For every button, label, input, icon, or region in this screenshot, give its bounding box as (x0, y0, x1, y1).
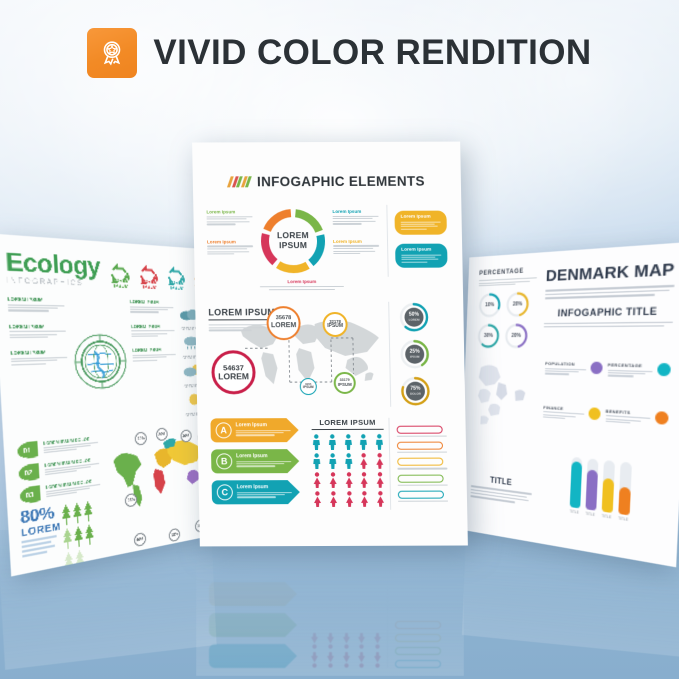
map-percent-marker: 35% (169, 528, 181, 543)
person-male-icon (343, 434, 352, 450)
arrow-heading: Lorem Ipsum (235, 422, 290, 428)
tree-icon (72, 501, 83, 525)
ecology-header: Ecology INFOGRAPHICS LOREMIPSUM (5, 249, 201, 292)
stripe-icon (227, 176, 252, 187)
arrow-banner-list: A Lorem Ipsum B Lorem Ipsum (210, 418, 308, 510)
award-ribbon-icon (87, 28, 137, 78)
denmark-stat-grid: POPULATION PERCENTAGE FINANCE (542, 361, 671, 452)
percentage-heading: PERCENTAGE (479, 268, 537, 277)
stat-item: POPULATION (544, 361, 602, 401)
divider (312, 429, 384, 430)
leaf-icon: 03 (18, 484, 42, 505)
arrow-banner[interactable]: B Lorem Ipsum (211, 449, 307, 473)
person-male-icon (328, 453, 337, 469)
person-female-icon (375, 453, 384, 469)
card-heading: Lorem Ipsum (401, 215, 441, 220)
donut-callouts-left: Lorem Ipsum Lorem Ipsum (206, 205, 253, 277)
person-female-icon (376, 491, 385, 507)
stat-dot (657, 363, 671, 376)
gauge-value: 50% LOREM (404, 308, 423, 327)
person-female-icon (359, 453, 368, 469)
stat-item: BENEFITS (604, 408, 669, 452)
donut-center-label: LOREM IPSUM (255, 205, 330, 277)
percentage-gauge: 20% (505, 291, 531, 319)
donut-callouts-right: Lorem Ipsum Lorem Ipsum (332, 205, 379, 277)
arrow-letter: B (216, 453, 232, 469)
stat-dot (590, 362, 602, 375)
donut-callout: Lorem Ipsum (332, 209, 378, 226)
person-male-icon (327, 434, 336, 450)
ecology-leaf-list: 01 LOREM IPSUM DOLOR 02 LOREM IPSUM DOLO… (16, 434, 105, 576)
arrow-letter: C (217, 484, 233, 500)
gauge-value: 30% (476, 323, 501, 350)
callout-heading: LOREM IPSUM (11, 349, 68, 356)
pill-item[interactable] (397, 426, 451, 437)
person-female-icon (344, 472, 353, 488)
percent-gauge: 25% IPSUM (399, 339, 431, 370)
tube-label: TITLE (569, 509, 580, 515)
map-percent-marker: 40% (134, 532, 146, 547)
callout-heading: Lorem Ipsum (192, 279, 450, 285)
donut-chart: LOREM IPSUM (255, 205, 330, 277)
pill-list (388, 418, 452, 510)
arrow-letter: A (215, 422, 231, 438)
tree-icon (62, 527, 73, 551)
person-male-icon (312, 434, 321, 450)
person-female-icon (360, 491, 369, 507)
stat-dot (655, 411, 669, 425)
callout-heading: LOREM IPSUM (132, 347, 175, 353)
people-heading: LOREM IPSUM (311, 418, 383, 427)
person-female-icon (375, 472, 384, 488)
donut-callout: Lorem Ipsum (333, 239, 379, 256)
tube-label: TITLE (585, 511, 596, 517)
gauge-value: 20% (503, 323, 529, 351)
ecology-callout: LOREM IPSUM (130, 299, 174, 314)
denmark-map-poster[interactable]: PERCENTAGE 10% 20% 30% (459, 242, 679, 567)
stat-heading: POPULATION (545, 361, 586, 367)
pill-item[interactable] (398, 474, 452, 485)
denmark-title: DENMARK MAP (546, 260, 676, 286)
donut-callout: Lorem Ipsum (207, 239, 253, 256)
callout-heading: Lorem Ipsum (332, 209, 378, 214)
person-female-icon (313, 491, 322, 507)
people-row (312, 472, 384, 488)
person-male-icon (359, 434, 368, 450)
percent-gauge: 75% DOLOR (400, 376, 432, 407)
info-card[interactable]: Lorem Ipsum (395, 244, 447, 268)
stat-heading: PERCENTAGE (607, 362, 652, 369)
gauge-value: 75% DOLOR (406, 382, 425, 401)
world-map-section: LOREM IPSUM (208, 302, 384, 408)
tube-label: TITLE (601, 513, 612, 519)
tube-bar: TITLE (569, 457, 582, 515)
map-marker[interactable]: 32178 IPSUM (322, 312, 347, 337)
leaf-icon: 02 (17, 462, 41, 482)
ecology-callout: LOREM IPSUM (7, 296, 65, 313)
map-marker[interactable]: 35678 LOREM (266, 306, 301, 340)
person-female-icon (312, 472, 321, 488)
pill-item[interactable] (397, 458, 451, 469)
tree-icon (83, 500, 94, 524)
info-card[interactable]: Lorem Ipsum (394, 211, 446, 235)
tube-bar: TITLE (585, 459, 598, 517)
title-section: TITLE (470, 473, 532, 508)
tube-bar-chart: TITLE TITLE TITLE TITLE (539, 454, 666, 527)
callout-heading: LOREM IPSUM (7, 296, 64, 303)
arrow-heading: Lorem Ipsum (236, 453, 291, 459)
page-title: VIVID COLOR RENDITION (153, 33, 591, 73)
person-female-icon (344, 491, 353, 507)
callout-heading: LOREM IPSUM (130, 299, 173, 305)
percentage-gauge: 30% (476, 323, 501, 350)
gauge-value: 25% IPSUM (405, 345, 424, 364)
ecology-callout: LOREM IPSUM (11, 349, 68, 366)
tree-icon (73, 525, 84, 549)
percent-gauge: 50% LOREM (398, 302, 430, 333)
center-poster-title: INFOGAPHIC ELEMENTS (257, 174, 425, 190)
tube-label: TITLE (617, 516, 629, 522)
arrow-heading: Lorem Ipsum (237, 484, 292, 490)
person-male-icon (344, 453, 353, 469)
arrow-banner[interactable]: A Lorem Ipsum (210, 418, 306, 442)
card-heading: Lorem Ipsum (401, 248, 441, 253)
map-marker[interactable]: 33179 IPSUM (334, 372, 356, 394)
infographic-elements-poster[interactable]: INFOGAPHIC ELEMENTS Lorem Ipsum Lorem Ip… (192, 142, 468, 547)
stat-dot (588, 407, 600, 420)
arrow-banner[interactable]: C Lorem Ipsum (212, 480, 308, 504)
donut-callout-bottom: Lorem Ipsum (192, 279, 450, 291)
leaf-icon: 01 (16, 440, 40, 460)
map-marker[interactable]: 54637 LOREM (211, 350, 256, 394)
gauge-value: 10% (477, 292, 502, 319)
tube-bar: TITLE (617, 462, 631, 522)
percentage-gauge: 10% (477, 292, 502, 319)
ecology-callouts-right: LOREM IPSUM LOREM IPSUM LOREM IPSUM (130, 299, 179, 422)
callout-heading: Lorem Ipsum (333, 239, 379, 244)
people-row (313, 491, 385, 507)
svg-text:02: 02 (24, 469, 33, 478)
person-female-icon (360, 472, 369, 488)
recycle-badge: LOREMIPSUM (137, 263, 162, 290)
gauge-value: 20% (505, 291, 531, 319)
people-pictogram-section: LOREM IPSUM (311, 418, 385, 510)
ecology-callout: LOREM IPSUM (9, 323, 66, 339)
person-male-icon (312, 453, 321, 469)
callout-heading: Lorem Ipsum (206, 209, 252, 214)
callout-heading: Lorem Ipsum (207, 239, 253, 244)
ecology-callout: LOREM IPSUM (131, 323, 175, 338)
ecology-callout: LOREM IPSUM (132, 347, 176, 363)
map-marker[interactable]: 3215 IPSUM (300, 378, 317, 395)
recycle-badge: LOREMIPSUM (107, 262, 134, 289)
ecology-poster[interactable]: Ecology INFOGRAPHICS LOREMIPSUM (0, 234, 221, 577)
percentage-gauge: 20% (503, 323, 529, 351)
people-row (312, 453, 384, 469)
recycle-badge: LOREMIPSUM (165, 265, 189, 291)
tube-bar: TITLE (601, 460, 615, 519)
pill-item[interactable] (398, 490, 452, 501)
person-male-icon (375, 434, 384, 450)
tree-icon (84, 523, 95, 547)
page-header: VIVID COLOR RENDITION (0, 28, 679, 78)
percentage-section: PERCENTAGE 10% 20% 30% (476, 268, 537, 351)
denmark-subtitle: INFOGAPHIC TITLE (544, 304, 674, 318)
center-poster-header: INFOGAPHIC ELEMENTS (206, 174, 448, 190)
ecology-title: Ecology (5, 249, 101, 279)
gauge-list: 50% LOREM 25% IPSUM 75% DOLOR (388, 302, 452, 407)
pill-item[interactable] (397, 442, 451, 453)
svg-text:01: 01 (23, 447, 32, 456)
callout-heading: LOREM IPSUM (9, 323, 66, 329)
ecology-callouts-left: LOREM IPSUM LOREM IPSUM LOREM IPSUM (7, 296, 71, 432)
person-female-icon (328, 472, 337, 488)
people-row (312, 434, 384, 450)
callout-heading: LOREM IPSUM (131, 323, 174, 328)
stat-item: PERCENTAGE (606, 362, 671, 404)
globe-diagram (70, 298, 132, 428)
person-female-icon (329, 491, 338, 507)
svg-text:03: 03 (26, 491, 35, 500)
stat-item: FINANCE (542, 404, 600, 446)
info-cards: Lorem Ipsum Lorem Ipsum (386, 205, 449, 277)
tree-icon (61, 503, 72, 527)
donut-callout: Lorem Ipsum (206, 209, 252, 226)
denmark-map-graphic (473, 360, 538, 441)
